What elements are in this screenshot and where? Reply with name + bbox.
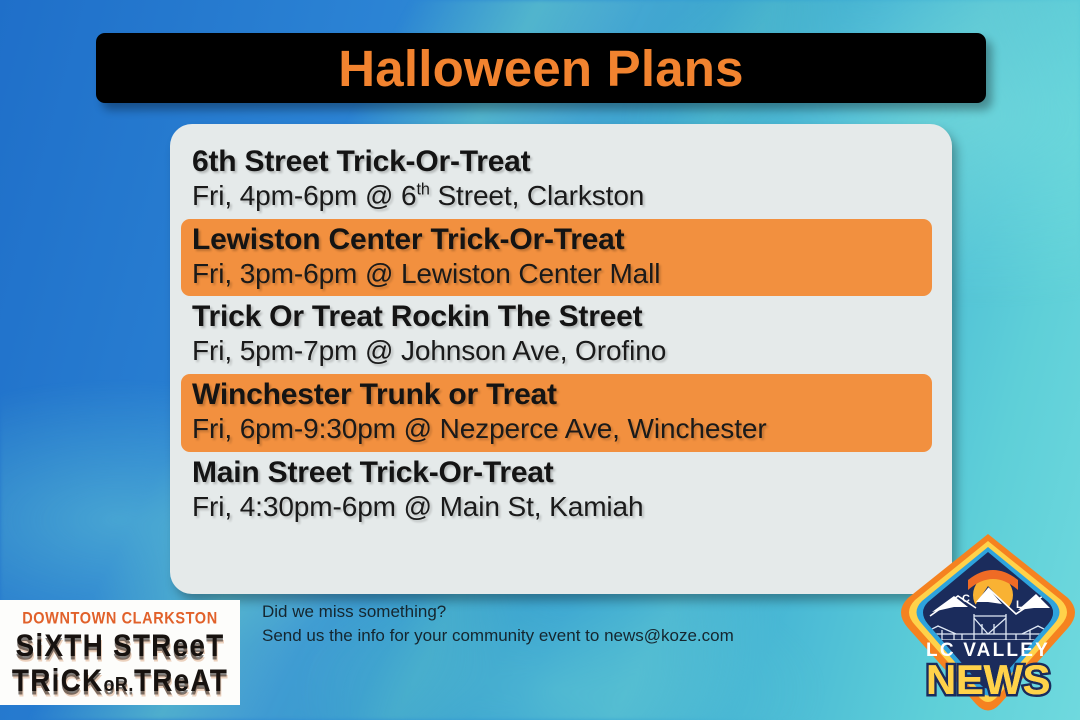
event-row-5: Main Street Trick-Or-Treat Fri, 4:30pm-6…	[181, 452, 932, 530]
sponsor-logo-line2-left: TRiCK	[12, 663, 104, 698]
event-title: Trick Or Treat Rockin The Street	[192, 299, 932, 334]
peak-label-right: L	[1016, 599, 1023, 611]
title-bar: Halloween Plans	[96, 33, 986, 103]
sixth-street-trick-or-treat-logo: DOWNTOWN CLARKSTON SiXTH STReeT TRiCKoR.…	[0, 600, 240, 705]
sponsor-logo-line2-mid: oR.	[103, 673, 134, 695]
page-title: Halloween Plans	[338, 43, 743, 94]
event-row-3: Trick Or Treat Rockin The Street Fri, 5p…	[181, 296, 932, 374]
lc-valley-news-logo-graphic: C L LC VALLEY NEWS NEWS	[896, 528, 1080, 720]
event-detail-suffix: Street, Clarkston	[430, 180, 645, 211]
sponsor-logo-top-line: DOWNTOWN CLARKSTON	[22, 609, 218, 627]
event-detail: Fri, 4:30pm-6pm @ Main St, Kamiah	[192, 490, 932, 524]
event-row-2: Lewiston Center Trick-Or-Treat Fri, 3pm-…	[181, 219, 932, 297]
sponsor-logo-line2-right: TReAT	[134, 663, 228, 698]
event-title: Main Street Trick-Or-Treat	[192, 455, 932, 490]
event-row-1: 6th Street Trick-Or-Treat Fri, 4pm-6pm @…	[181, 141, 932, 219]
logo-bottom-text: NEWS	[926, 656, 1050, 703]
footer-note: Did we miss something? Send us the info …	[262, 600, 882, 648]
event-title: Winchester Trunk or Treat	[192, 377, 932, 412]
event-detail-prefix: Fri, 4pm-6pm @ 6	[192, 180, 416, 211]
event-detail: Fri, 5pm-7pm @ Johnson Ave, Orofino	[192, 334, 932, 368]
event-detail-ordinal-suffix: th	[416, 181, 429, 199]
event-detail: Fri, 6pm-9:30pm @ Nezperce Ave, Winchest…	[192, 412, 932, 446]
footer-line-2: Send us the info for your community even…	[262, 624, 882, 648]
lc-valley-news-logo: C L LC VALLEY NEWS NEWS	[896, 528, 1080, 720]
event-title: 6th Street Trick-Or-Treat	[192, 144, 932, 179]
sponsor-logo-line-2: TRiCKoR.TReAT	[12, 665, 228, 696]
event-detail: Fri, 3pm-6pm @ Lewiston Center Mall	[192, 257, 932, 291]
event-title: Lewiston Center Trick-Or-Treat	[192, 222, 932, 257]
event-detail: Fri, 4pm-6pm @ 6th Street, Clarkston	[192, 179, 932, 213]
peak-label-left: C	[962, 593, 970, 605]
event-row-4: Winchester Trunk or Treat Fri, 6pm-9:30p…	[181, 374, 932, 452]
sponsor-logo-line-1: SiXTH STReeT	[16, 630, 225, 661]
event-list-card: 6th Street Trick-Or-Treat Fri, 4pm-6pm @…	[170, 124, 952, 594]
footer-line-1: Did we miss something?	[262, 600, 882, 624]
